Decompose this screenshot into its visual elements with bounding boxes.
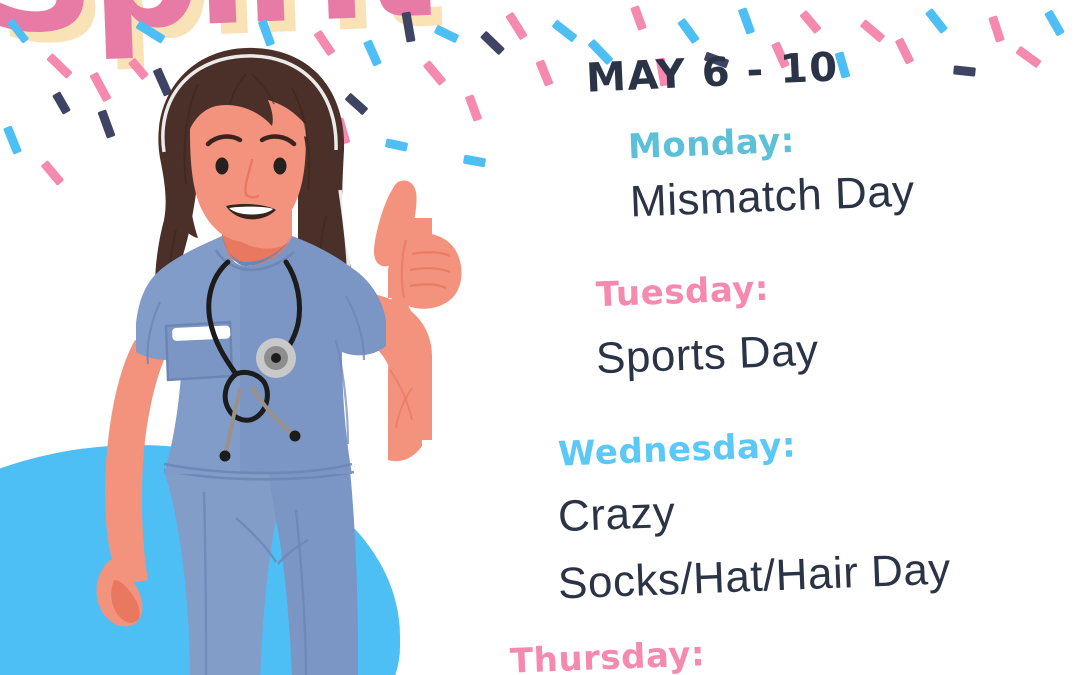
day-activity-wednesday-line2: Socks/Hat/Hair Day: [557, 544, 952, 609]
schedule-column: MAY 6 - 10 Monday: Mismatch Day Tuesday:…: [540, 0, 1080, 675]
confetti-piece: [505, 12, 527, 41]
nurse-illustration: [40, 40, 510, 675]
date-range-heading: MAY 6 - 10: [585, 44, 840, 101]
confetti-piece: [3, 125, 22, 154]
confetti-piece: [7, 18, 29, 43]
flyer-canvas: Spirit Spirit: [0, 0, 1080, 675]
confetti-piece: [401, 11, 415, 42]
day-activity-monday: Mismatch Day: [629, 167, 915, 228]
day-label-wednesday: Wednesday:: [557, 425, 797, 474]
day-activity-tuesday: Sports Day: [595, 326, 819, 385]
day-label-tuesday: Tuesday:: [595, 269, 769, 316]
day-label-thursday: Thursday:: [509, 634, 706, 675]
day-label-monday: Monday:: [627, 121, 795, 167]
day-activity-wednesday-line1: Crazy: [557, 488, 676, 542]
